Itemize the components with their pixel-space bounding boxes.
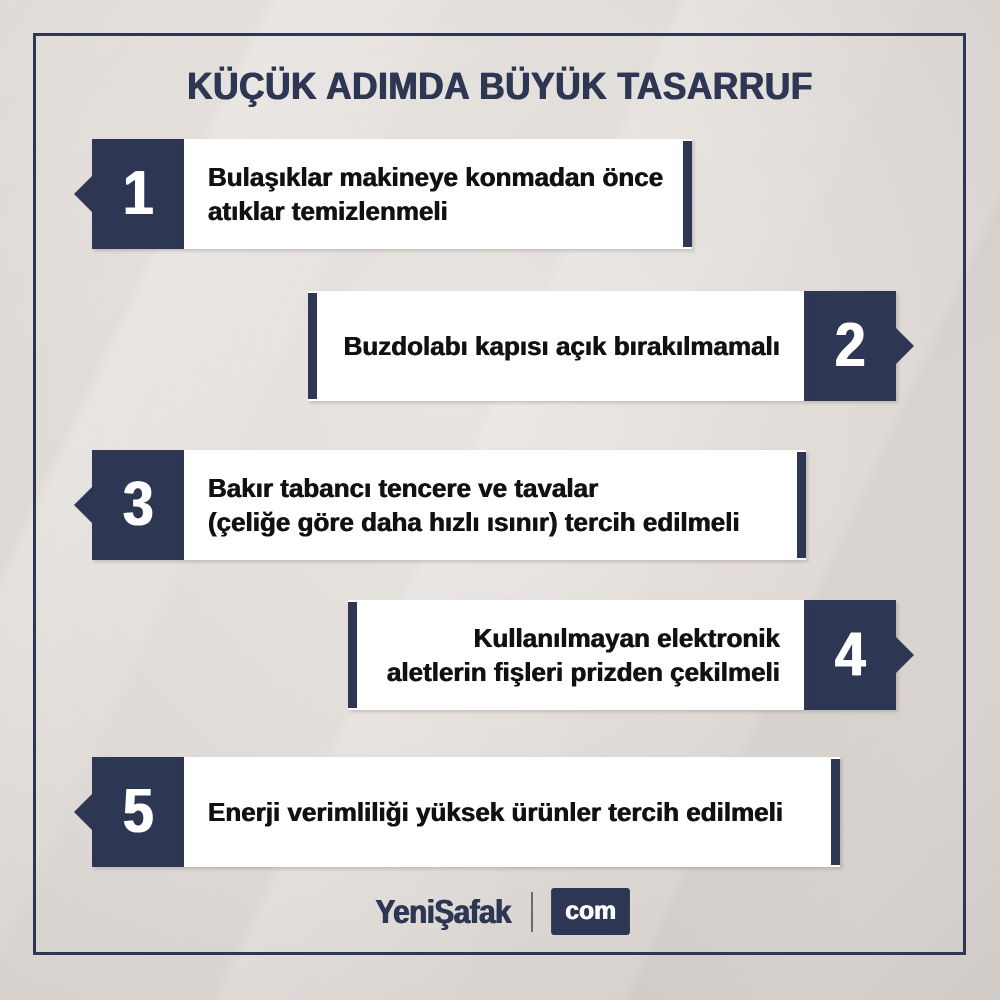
step-number: 4 (835, 624, 865, 686)
step-text: Bakır tabancı tencere ve tavalar (çeliğe… (208, 471, 740, 540)
arrow-left-icon (74, 176, 92, 212)
step-text-panel: Bulaşıklar makineye konmadan önce atıkla… (184, 139, 692, 249)
panel-end-bar (797, 452, 806, 558)
list-item: 1 Bulaşıklar makineye konmadan önce atık… (92, 139, 692, 249)
step-text-panel: Bakır tabancı tencere ve tavalar (çeliğe… (184, 450, 806, 560)
list-item: 5 Enerji verimliliği yüksek ürünler terc… (92, 757, 840, 867)
step-number-badge: 5 (92, 757, 184, 867)
list-item: 4 Kullanılmayan elektronik aletlerin fiş… (348, 600, 896, 710)
arrow-right-icon (896, 637, 914, 673)
panel-end-bar (308, 293, 317, 399)
brand-domain-badge: com (551, 888, 630, 935)
footer-logo: YeniŞafak com (0, 888, 1000, 935)
step-number: 3 (123, 474, 153, 536)
step-text-panel: Enerji verimliliği yüksek ürünler tercih… (184, 757, 840, 867)
arrow-right-icon (896, 328, 914, 364)
logo-divider (531, 892, 533, 932)
list-item: 3 Bakır tabancı tencere ve tavalar (çeli… (92, 450, 806, 560)
page-title: KÜÇÜK ADIMDA BÜYÜK TASARRUF (35, 66, 965, 109)
step-text-panel: Kullanılmayan elektronik aletlerin fişle… (348, 600, 804, 710)
step-number-badge: 2 (804, 291, 896, 401)
panel-end-bar (831, 759, 840, 865)
step-number-badge: 3 (92, 450, 184, 560)
brand-wordmark: YeniŞafak (376, 893, 511, 931)
step-number: 1 (123, 163, 153, 225)
step-number: 5 (123, 781, 153, 843)
step-number-badge: 4 (804, 600, 896, 710)
infographic-poster: KÜÇÜK ADIMDA BÜYÜK TASARRUF 1 Bulaşıklar… (0, 0, 1000, 1000)
step-text: Enerji verimliliği yüksek ürünler tercih… (208, 795, 783, 829)
step-text: Kullanılmayan elektronik aletlerin fişle… (387, 621, 780, 690)
panel-end-bar (683, 141, 692, 247)
arrow-left-icon (74, 794, 92, 830)
arrow-left-icon (74, 487, 92, 523)
step-text-panel: Buzdolabı kapısı açık bırakılmamalı (308, 291, 804, 401)
panel-end-bar (348, 602, 357, 708)
list-item: 2 Buzdolabı kapısı açık bırakılmamalı (308, 291, 896, 401)
step-number-badge: 1 (92, 139, 184, 249)
step-text: Buzdolabı kapısı açık bırakılmamalı (344, 329, 780, 363)
step-number: 2 (835, 315, 865, 377)
step-text: Bulaşıklar makineye konmadan önce atıkla… (208, 160, 663, 229)
